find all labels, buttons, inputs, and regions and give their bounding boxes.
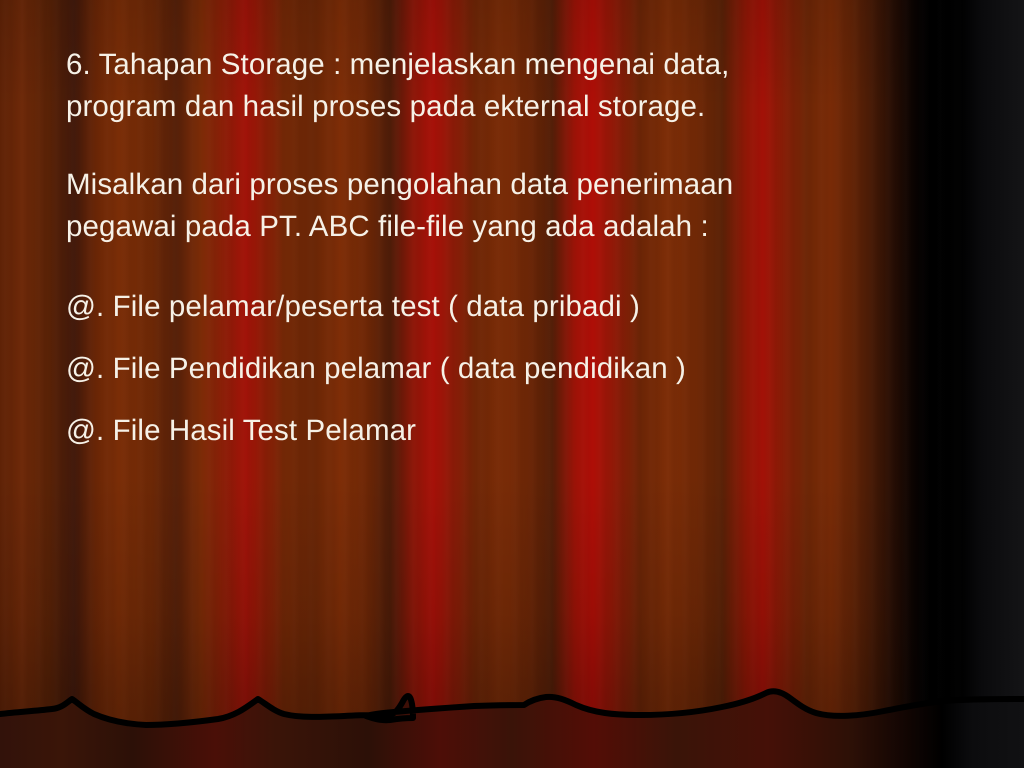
text-line: 6. Tahapan Storage : menjelaskan mengena…: [66, 48, 729, 81]
text-line: @. File Pendidikan pelamar ( data pendid…: [66, 352, 686, 385]
slide-content-body: 6. Tahapan Storage : menjelaskan mengena…: [66, 44, 896, 472]
presentation-slide: 6. Tahapan Storage : menjelaskan mengena…: [0, 0, 1024, 768]
bullet-file-pelamar: @. File pelamar/peserta test ( data prib…: [66, 286, 896, 328]
bottom-wave-divider: [0, 658, 1024, 768]
paragraph-storage-stage: 6. Tahapan Storage : menjelaskan mengena…: [66, 44, 896, 128]
paragraph-spacer: [66, 270, 896, 286]
paragraph-spacer: [66, 148, 896, 164]
text-line: @. File Hasil Test Pelamar: [66, 414, 416, 447]
bullet-file-pendidikan: @. File Pendidikan pelamar ( data pendid…: [66, 348, 896, 390]
text-line: pegawai pada PT. ABC file-file yang ada …: [66, 210, 709, 243]
text-line: Misalkan dari proses pengolahan data pen…: [66, 168, 733, 201]
paragraph-example-intro: Misalkan dari proses pengolahan data pen…: [66, 164, 896, 248]
slide-background-right-dark-band: [914, 0, 1024, 768]
text-line: @. File pelamar/peserta test ( data prib…: [66, 290, 640, 323]
text-line: program dan hasil proses pada ekternal s…: [66, 90, 705, 123]
bullet-file-hasil-test: @. File Hasil Test Pelamar: [66, 410, 896, 452]
